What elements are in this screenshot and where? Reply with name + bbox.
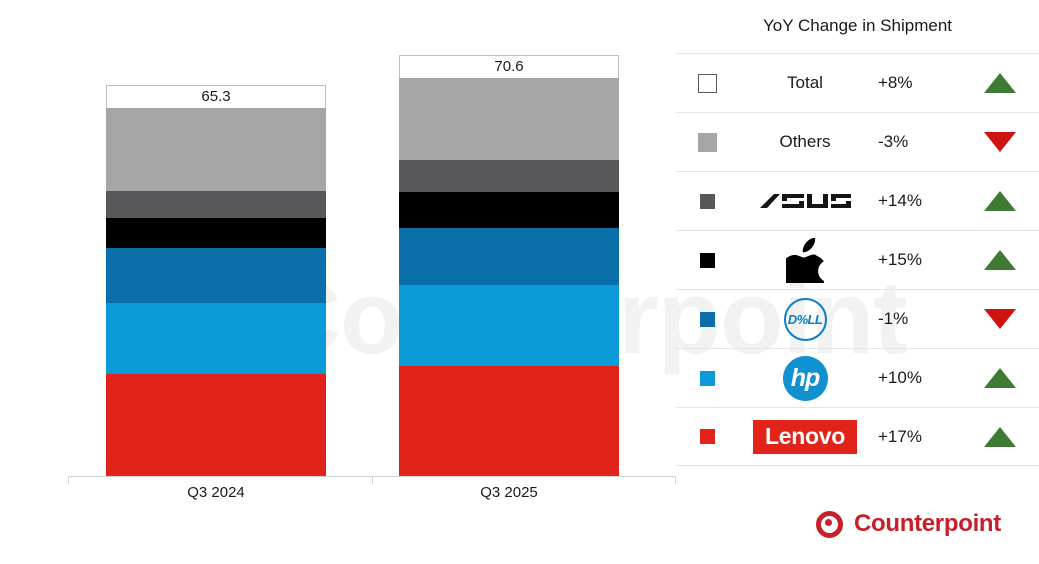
legend-label-cell: Total bbox=[738, 73, 872, 93]
legend-arrow-cell bbox=[964, 427, 1036, 447]
legend-change-apple: +15% bbox=[872, 250, 964, 270]
legend-arrow-cell bbox=[964, 250, 1036, 270]
bar-segment-dell[interactable] bbox=[106, 248, 326, 303]
legend-swatch-cell bbox=[676, 371, 738, 386]
bar-segment-lenovo[interactable] bbox=[106, 374, 326, 476]
legend-row-apple[interactable]: +15% bbox=[676, 230, 1039, 289]
legend-swatch-cell bbox=[676, 133, 738, 152]
swatch-lenovo-icon bbox=[700, 429, 715, 444]
legend-arrow-cell bbox=[964, 73, 1036, 93]
counterpoint-logo-icon bbox=[816, 511, 843, 538]
axis-tick bbox=[372, 477, 373, 484]
legend-row-hp[interactable]: hp +10% bbox=[676, 348, 1039, 407]
legend-label-total: Total bbox=[787, 73, 823, 93]
bar-total-label: 65.3 bbox=[106, 85, 326, 109]
legend-change-others: -3% bbox=[872, 132, 964, 152]
legend-swatch-cell bbox=[676, 312, 738, 327]
x-axis-label-q3-2024: Q3 2024 bbox=[106, 484, 326, 501]
swatch-asus-icon bbox=[700, 194, 715, 209]
arrow-down-icon bbox=[984, 132, 1016, 152]
bar-segment-asus[interactable] bbox=[106, 191, 326, 218]
lenovo-logo-icon: Lenovo bbox=[753, 420, 857, 454]
bar-segment-asus[interactable] bbox=[399, 160, 619, 192]
legend-swatch-cell bbox=[676, 253, 738, 268]
legend-row-total[interactable]: Total +8% bbox=[676, 53, 1039, 112]
legend-label-cell: hp bbox=[738, 356, 872, 401]
legend-arrow-cell bbox=[964, 309, 1036, 329]
legend-change-hp: +10% bbox=[872, 368, 964, 388]
arrow-up-icon bbox=[984, 250, 1016, 270]
stacked-bar-q3-2024[interactable]: 65.3 bbox=[106, 0, 326, 476]
bar-segment-others[interactable] bbox=[399, 78, 619, 160]
x-axis-label-q3-2025: Q3 2025 bbox=[399, 484, 619, 501]
legend-label-cell: Lenovo bbox=[738, 420, 872, 454]
legend-arrow-cell bbox=[964, 132, 1036, 152]
bar-segment-apple[interactable] bbox=[106, 218, 326, 248]
swatch-others-icon bbox=[698, 133, 717, 152]
chart-root: Counterpoint 65.3 Q3 2024 70.6 Q3 bbox=[0, 0, 1039, 564]
legend-row-asus[interactable]: +14% bbox=[676, 171, 1039, 230]
legend-swatch-cell bbox=[676, 429, 738, 444]
legend-swatch-cell bbox=[676, 74, 738, 93]
swatch-dell-icon bbox=[700, 312, 715, 327]
legend-label-cell: D%LL bbox=[738, 298, 872, 341]
legend-change-dell: -1% bbox=[872, 309, 964, 329]
swatch-total-icon bbox=[698, 74, 717, 93]
legend-label-cell bbox=[738, 190, 872, 212]
arrow-up-icon bbox=[984, 191, 1016, 211]
legend-label-cell bbox=[738, 238, 872, 283]
legend-row-dell[interactable]: D%LL -1% bbox=[676, 289, 1039, 348]
swatch-hp-icon bbox=[700, 371, 715, 386]
apple-logo-icon bbox=[786, 238, 824, 283]
bar-segment-others[interactable] bbox=[106, 108, 326, 191]
asus-logo-icon bbox=[759, 190, 851, 212]
stacked-bar-q3-2025[interactable]: 70.6 bbox=[399, 0, 619, 476]
arrow-up-icon bbox=[984, 427, 1016, 447]
bar-total-label: 70.6 bbox=[399, 55, 619, 79]
swatch-apple-icon bbox=[700, 253, 715, 268]
bar-segment-hp[interactable] bbox=[399, 285, 619, 366]
legend-row-others[interactable]: Others -3% bbox=[676, 112, 1039, 171]
legend-arrow-cell bbox=[964, 368, 1036, 388]
legend-change-lenovo: +17% bbox=[872, 427, 964, 447]
arrow-up-icon bbox=[984, 73, 1016, 93]
arrow-down-icon bbox=[984, 309, 1016, 329]
legend-change-asus: +14% bbox=[872, 191, 964, 211]
hp-logo-text: hp bbox=[791, 366, 820, 391]
bar-segment-lenovo[interactable] bbox=[399, 366, 619, 476]
bar-segment-apple[interactable] bbox=[399, 192, 619, 228]
bar-segment-dell[interactable] bbox=[399, 228, 619, 285]
legend-label-cell: Others bbox=[738, 132, 872, 152]
legend-swatch-cell bbox=[676, 194, 738, 209]
plot-area: 65.3 Q3 2024 70.6 Q3 2025 bbox=[0, 0, 676, 564]
axis-tick bbox=[68, 477, 69, 484]
bar-segment-hp[interactable] bbox=[106, 303, 326, 374]
legend-row-lenovo[interactable]: Lenovo +17% bbox=[676, 407, 1039, 466]
legend-label-others: Others bbox=[779, 132, 830, 152]
dell-logo-icon: D%LL bbox=[784, 298, 827, 341]
legend-arrow-cell bbox=[964, 191, 1036, 211]
legend-change-total: +8% bbox=[872, 73, 964, 93]
counterpoint-brand-text: Counterpoint bbox=[854, 510, 1001, 538]
legend-rows: Total +8% Others -3% bbox=[676, 53, 1039, 466]
dell-logo-text: D%LL bbox=[788, 312, 822, 327]
counterpoint-brandmark: Counterpoint bbox=[816, 510, 1001, 538]
hp-logo-icon: hp bbox=[783, 356, 828, 401]
legend-panel: YoY Change in Shipment Total +8% bbox=[676, 0, 1039, 500]
arrow-up-icon bbox=[984, 368, 1016, 388]
legend-title: YoY Change in Shipment bbox=[676, 16, 1039, 36]
